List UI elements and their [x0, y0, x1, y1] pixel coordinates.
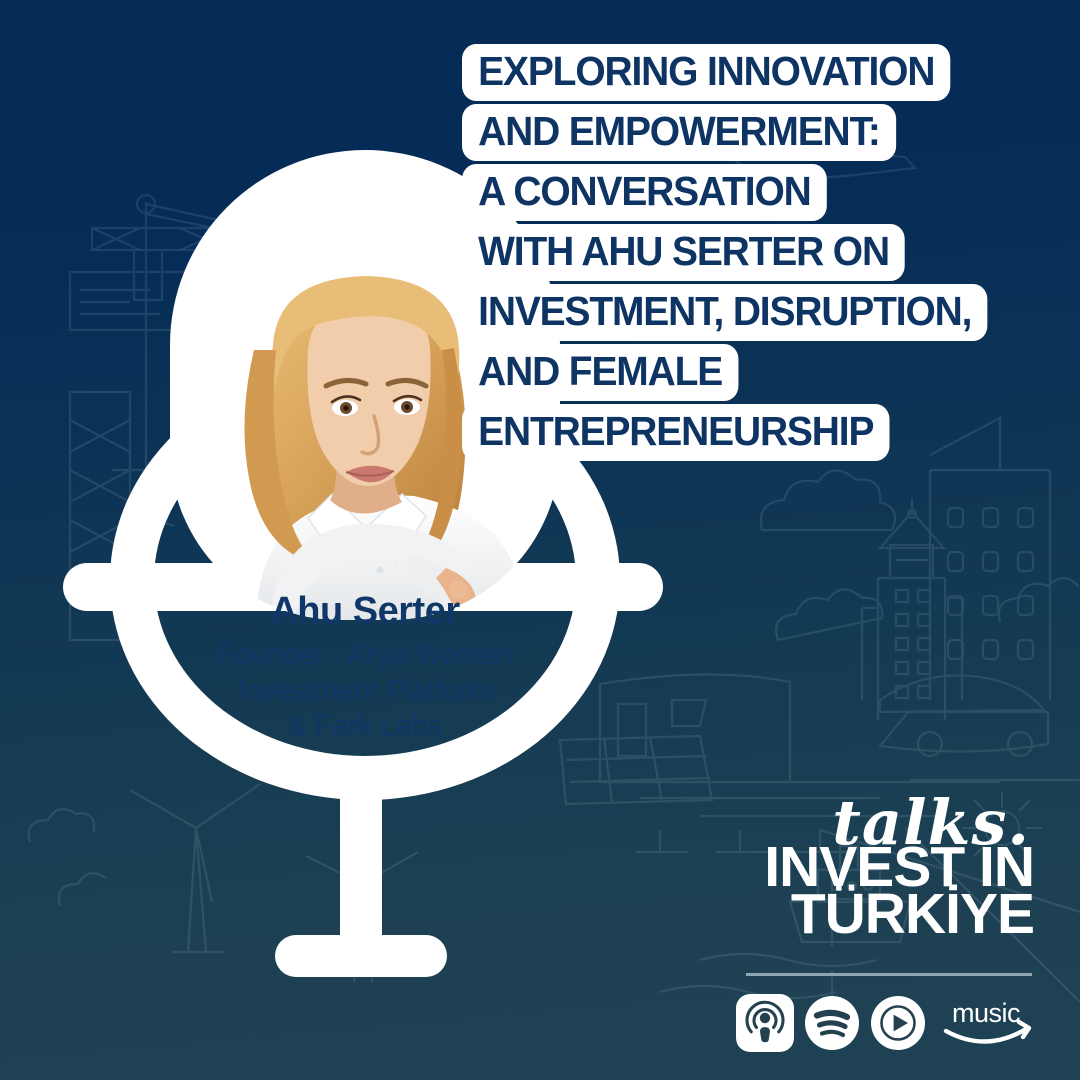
podcast-platform-links: music — [736, 992, 1036, 1054]
title-line: INVESTMENT, DISRUPTION, — [462, 284, 987, 341]
title-line: AND FEMALE — [462, 344, 738, 401]
mic-base — [275, 935, 447, 977]
speaker-role-line: & Fark Labs — [130, 709, 600, 745]
title-line: ENTREPRENEURSHIP — [462, 404, 889, 461]
youtube-music-icon[interactable] — [869, 994, 927, 1052]
amazon-music-icon[interactable]: music — [936, 995, 1036, 1051]
speaker-role: Founder - Arya Women Investment Platform… — [130, 638, 600, 745]
title-line: A CONVERSATION — [462, 164, 827, 221]
speaker-role-line: Founder - Arya Women — [130, 638, 600, 674]
speaker-role-line: Investment Platform — [130, 674, 600, 710]
mic-stem — [340, 770, 382, 940]
title-line: AND EMPOWERMENT: — [462, 104, 896, 161]
title-line: EXPLORING INNOVATION — [462, 44, 950, 101]
logo-divider — [746, 973, 1032, 976]
spotify-icon[interactable] — [803, 994, 861, 1052]
podcast-episode-poster: Ahu Serter Founder - Arya Women Investme… — [0, 0, 1080, 1080]
speaker-name: Ahu Serter — [130, 592, 600, 632]
apple-podcasts-icon[interactable] — [736, 994, 794, 1052]
brand-logo: talks. INVEST IN TÜRKİYE — [734, 798, 1034, 942]
episode-title: EXPLORING INNOVATION AND EMPOWERMENT: A … — [462, 44, 1032, 464]
svg-text:music: music — [952, 998, 1020, 1028]
speaker-info: Ahu Serter Founder - Arya Women Investme… — [130, 592, 600, 745]
title-line: WITH AHU SERTER ON — [462, 224, 905, 281]
